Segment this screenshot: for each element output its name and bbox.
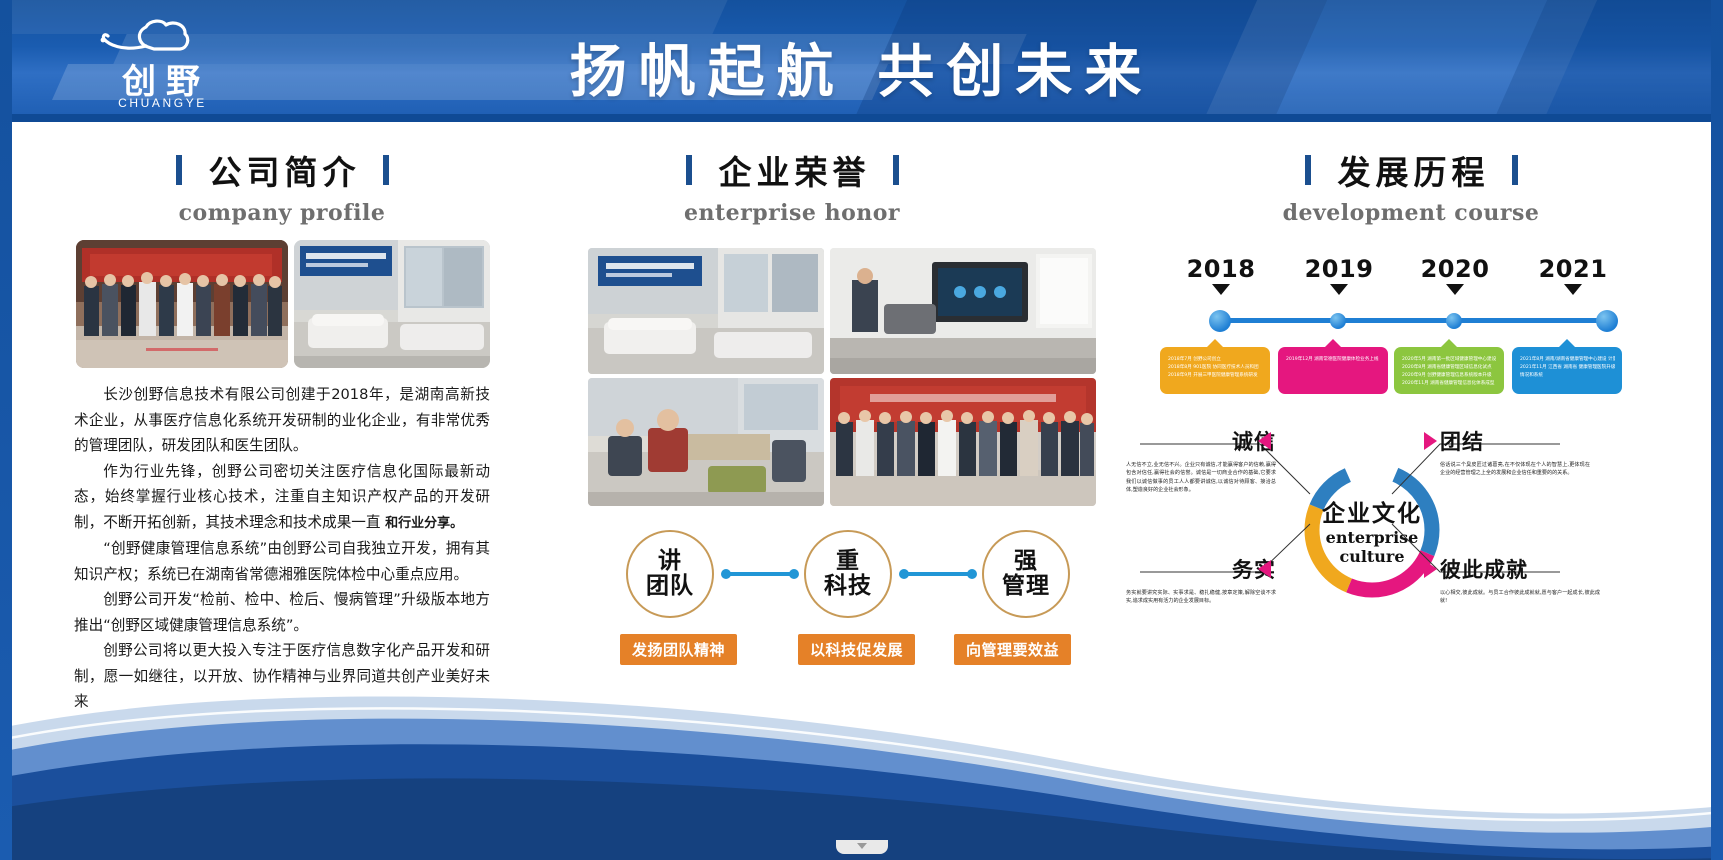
photo-office-lobby-graphic [294, 240, 490, 368]
connector-dot-left [899, 569, 909, 579]
poster-canvas: 创野 CHUANGYE 扬帆起航 共创未来 公司简介 company profi… [0, 0, 1723, 860]
connector-dot-left [721, 569, 731, 579]
culture-value-title: 诚信 [1126, 426, 1276, 456]
circle-line-1: 讲 [658, 549, 682, 574]
timeline-year-2018: 2018 [1166, 255, 1276, 283]
card-line: 2018年7月 创野公司创立 [1168, 356, 1263, 364]
culture-value-integrity: 诚信 人无信不立,业无信不兴。企业只有诚信,才能赢得客户的信赖,赢得包含对信任,… [1126, 426, 1276, 495]
photo-honor-4 [830, 378, 1096, 506]
timeline-node-2019 [1330, 313, 1346, 329]
photo-team-group [76, 240, 288, 368]
profile-paragraph-2: 作为行业先锋，创野公司密切关注医疗信息化国际最新动态，始终掌握行业核心技术，注重… [74, 459, 490, 537]
card-line: 2020年8月 湖南省健康管理区域信息化试点 [1402, 364, 1497, 372]
photo-honor-1-graphic [588, 248, 824, 374]
timeline-card-2019: 2019年12月 湖南常德医院健康体检业务上线 [1278, 347, 1388, 394]
card-nub [1324, 339, 1342, 348]
photo-office-lobby [294, 240, 490, 368]
connector-dot-right [967, 569, 977, 579]
section-heading-honor: 企业荣誉 enterprise honor [586, 146, 998, 226]
photo-honor-3-graphic [588, 378, 824, 506]
culture-value-body: 务实就要讲究实际、实事求是、稳扎稳健,按章定策,解除空谈不求实,追求成实用有活力… [1126, 589, 1276, 606]
culture-value-title: 务实 [1126, 554, 1276, 584]
card-line: 2021年11月 江西省 湖南省 健康管理医院升级完成 [1520, 364, 1615, 372]
culture-value-unity: 团结 俗话说三个臭皮匠过诸葛亮,在不仅体现在个人的智慧上,更体现在企业的经营管理… [1440, 426, 1590, 478]
header-underline [0, 114, 1723, 122]
value-circle-management: 强 管理 [982, 530, 1070, 618]
profile-paragraph-3: “创野健康管理信息系统”由创野公司自我独立开发，拥有其知识产权；系统已在湖南省常… [74, 536, 490, 587]
heading-tick-left [1305, 155, 1311, 185]
heading-tick-right [1512, 155, 1518, 185]
heading-tick-left [686, 155, 692, 185]
section-title-cn: 公司简介 [204, 146, 361, 194]
photo-honor-2 [830, 248, 1096, 374]
section-title-cn: 发展历程 [1333, 146, 1490, 194]
poster-header: 创野 CHUANGYE 扬帆起航 共创未来 [0, 0, 1723, 122]
culture-arrow-mutual-success [1424, 560, 1437, 578]
culture-arrow-pragmatism [1258, 560, 1271, 578]
heading-tick-right [383, 155, 389, 185]
section-title-cn: 企业荣誉 [714, 146, 871, 194]
timeline-year-2021: 2021 [1518, 255, 1628, 283]
card-line: 2019年12月 湖南常德医院健康体检业务上线 [1286, 356, 1381, 364]
timeline-track [1222, 318, 1614, 323]
culture-value-title: 团结 [1440, 426, 1590, 456]
card-line: 2020年5月 湖南第一批区域健康管理中心建设 [1402, 356, 1497, 364]
culture-value-title: 彼此成就 [1440, 554, 1600, 584]
mount-screw [836, 840, 888, 854]
connector-dot-right [789, 569, 799, 579]
card-line: 2018年8月 901医院 协同医疗技术人员和团 [1168, 364, 1263, 372]
connector-2 [904, 572, 972, 576]
timeline-caret-2020 [1446, 284, 1464, 295]
profile-paragraph-1: 长沙创野信息技术有限公司创建于2018年，是湖南高新技术企业，从事医疗信息化系统… [74, 382, 490, 459]
circle-line-1: 重 [836, 549, 860, 574]
section-heading-course: 发展历程 development course [1152, 146, 1670, 226]
timeline-caret-2021 [1564, 284, 1582, 295]
card-nub [1440, 339, 1458, 348]
timeline-year-2020: 2020 [1400, 255, 1510, 283]
timeline-node-2018 [1209, 310, 1231, 332]
timeline-caret-2018 [1212, 284, 1230, 295]
value-circle-tech: 重 科技 [804, 530, 892, 618]
timeline-card-2018: 2018年7月 创野公司创立 2018年8月 901医院 协同医疗技术人员和团 … [1160, 347, 1270, 394]
footer-waves [0, 610, 1723, 860]
timeline-caret-2019 [1330, 284, 1348, 295]
culture-value-body: 人无信不立,业无信不兴。企业只有诚信,才能赢得客户的信赖,赢得包含对信任,赢得社… [1126, 461, 1276, 495]
connector-1 [726, 572, 794, 576]
card-line: 2018年9月 开展三甲医院健康管理系统研发 [1168, 372, 1263, 380]
frame-right [1711, 0, 1723, 860]
profile-handwriting-note: 和行业分享。 [385, 516, 463, 531]
culture-arrow-unity [1424, 432, 1437, 450]
heading-tick-right [893, 155, 899, 185]
heading-tick-left [176, 155, 182, 185]
value-circle-team: 讲 团队 [626, 530, 714, 618]
photo-honor-2-graphic [830, 248, 1096, 374]
card-nub [1558, 339, 1576, 348]
culture-value-body: 以心相交,彼此成就。与员工合作彼此成就就,愿与客户一起成长,彼此成就! [1440, 589, 1600, 606]
card-nub [1206, 339, 1224, 348]
circle-line-2: 团队 [646, 574, 694, 599]
section-title-en: company profile [74, 200, 490, 226]
circle-line-1: 强 [1014, 549, 1038, 574]
section-title-en: development course [1152, 200, 1670, 226]
culture-value-mutual-success: 彼此成就 以心相交,彼此成就。与员工合作彼此成就就,愿与客户一起成长,彼此成就! [1440, 554, 1600, 606]
section-title-en: enterprise honor [586, 200, 998, 226]
culture-value-body: 俗话说三个臭皮匠过诸葛亮,在不仅体现在个人的智慧上,更体现在企业的经营管理之上全… [1440, 461, 1590, 478]
section-heading-profile: 公司简介 company profile [74, 146, 490, 226]
card-line: 情况和系统 [1520, 372, 1615, 380]
photo-honor-1 [588, 248, 824, 374]
timeline-card-2020: 2020年5月 湖南第一批区域健康管理中心建设 2020年8月 湖南省健康管理区… [1394, 347, 1504, 394]
frame-left [0, 0, 12, 860]
circle-line-2: 科技 [824, 574, 872, 599]
timeline-card-2021: 2021年8月 湖南/湖南省健康管理中心建设 计量 2021年11月 江西省 湖… [1512, 347, 1622, 394]
timeline-node-2021 [1596, 310, 1618, 332]
card-line: 2020年9月 创野健康管理信息系统版本升级 [1402, 372, 1497, 380]
photo-honor-3 [588, 378, 824, 506]
culture-value-pragmatism: 务实 务实就要讲究实际、实事求是、稳扎稳健,按章定策,解除空谈不求实,追求成实用… [1126, 554, 1276, 606]
photo-honor-4-graphic [830, 378, 1096, 506]
card-line: 2020年11月 湖南省健康管理信息化体系成型 [1402, 380, 1497, 388]
photo-team-group-graphic [76, 240, 288, 368]
timeline-node-2020 [1446, 313, 1462, 329]
circle-line-2: 管理 [1002, 574, 1050, 599]
timeline-year-2019: 2019 [1284, 255, 1394, 283]
card-line: 2021年8月 湖南/湖南省健康管理中心建设 计量 [1520, 356, 1615, 364]
poster-title: 扬帆起航 共创未来 [0, 26, 1723, 108]
culture-arrow-integrity [1258, 432, 1271, 450]
